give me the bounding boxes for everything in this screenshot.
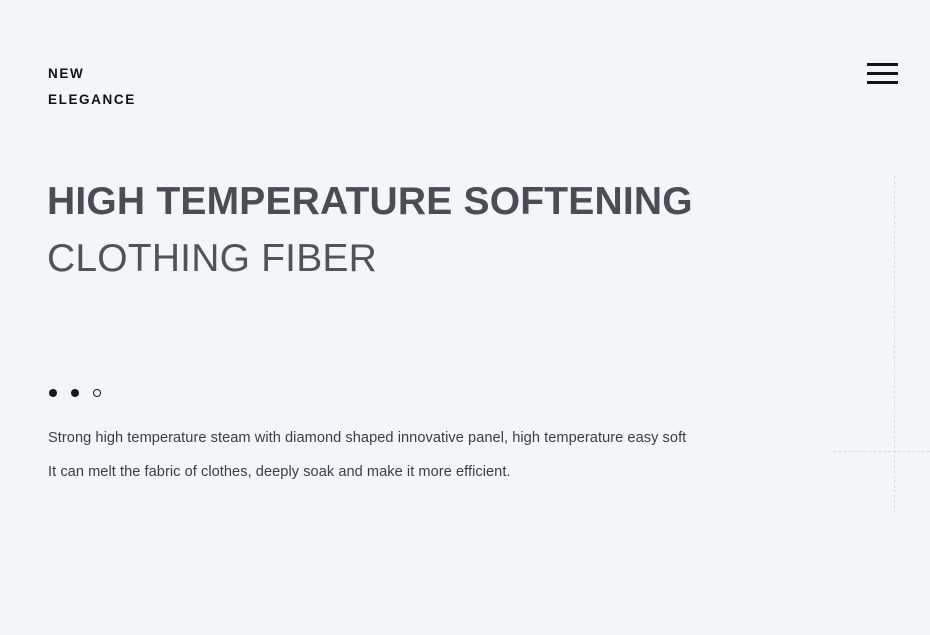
hero-description-line-1: Strong high temperature steam with diamo… (48, 421, 838, 455)
page-title: HIGH TEMPERATURE SOFTENING CLOTHING FIBE… (47, 173, 807, 287)
hero-description-line-2: It can melt the fabric of clothes, deepl… (48, 455, 838, 489)
page-title-line-1: HIGH TEMPERATURE SOFTENING (47, 173, 807, 230)
page-title-line-2: CLOTHING FIBER (47, 230, 807, 287)
carousel-dot-3[interactable] (93, 389, 101, 397)
carousel-dot-2[interactable] (71, 389, 79, 397)
carousel-dots (49, 389, 101, 397)
carousel-dot-1[interactable] (49, 389, 57, 397)
hero-description: Strong high temperature steam with diamo… (48, 421, 838, 489)
page-root: NEW ELEGANCE HIGH TEMPERATURE SOFTENING … (0, 0, 930, 635)
hero-section: HIGH TEMPERATURE SOFTENING CLOTHING FIBE… (0, 0, 930, 635)
